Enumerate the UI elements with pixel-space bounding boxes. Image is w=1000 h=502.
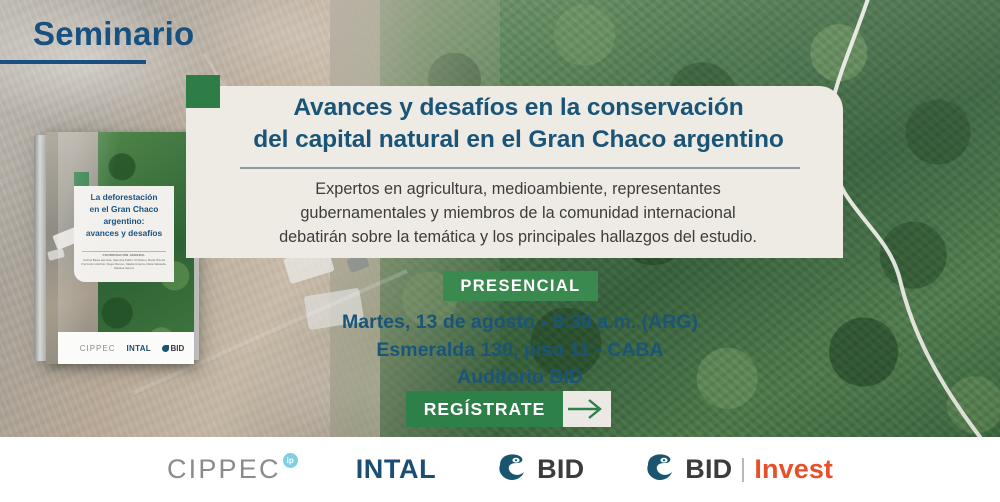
register-button-label[interactable]: REGÍSTRATE [406, 391, 563, 427]
event-time: 8:30 a.m. (ARG) [553, 311, 698, 333]
register-button[interactable]: REGÍSTRATE [406, 391, 611, 427]
bid-invest-swirl-mark-icon [644, 452, 678, 487]
bid-invest-divider [742, 458, 744, 482]
book-title-line-4: avances y desafíos [86, 228, 162, 238]
book-logo-cippec: CIPPEC [80, 344, 116, 353]
book-cover-logo-strip: CIPPEC INTAL BID [58, 332, 194, 364]
event-address: Esmeralda 130, piso 11 - CABA [376, 339, 663, 361]
logo-intal: INTAL [356, 454, 436, 485]
book-title-line-3: argentino: [104, 216, 145, 226]
book-cover-green-square [74, 172, 89, 187]
card-divider [240, 167, 800, 169]
description-line-3: debatirán sobre la temática y los princi… [279, 228, 757, 246]
book-mockup: La deforestación en el Gran Chaco argent… [34, 132, 194, 364]
event-venue: Auditorio BID [457, 366, 583, 388]
logo-bid: BID [496, 452, 584, 487]
logo-cippec: CIPPEC ip [167, 454, 296, 485]
book-cover-title: La deforestación en el Gran Chaco argent… [78, 192, 170, 240]
logo-bid-invest: BID Invest [644, 452, 833, 487]
bid-swirl-mark-icon [496, 452, 530, 487]
event-separator-dot: ● [535, 315, 553, 330]
seminar-promo-banner: Seminario La deforestación en el Gran Ch… [0, 0, 1000, 502]
book-title-line-2: en el Gran Chaco [90, 204, 159, 214]
event-date: Martes, 13 de agosto [342, 311, 535, 333]
event-details: Martes, 13 de agosto●8:30 a.m. (ARG) Esm… [180, 309, 860, 392]
cippec-wordmark: CIPPEC [167, 454, 281, 485]
intal-wordmark: INTAL [356, 454, 436, 485]
book-coordination-label: COORDINACIÓN GENERAL [82, 253, 166, 257]
book-coordination-rule [82, 251, 166, 252]
seminario-underline [0, 60, 146, 64]
bid-invest-suffix: Invest [754, 454, 833, 485]
partner-logo-bar: CIPPEC ip INTAL BID [0, 437, 1000, 502]
book-cover: La deforestación en el Gran Chaco argent… [46, 132, 194, 364]
bid-invest-wordmark: BID [685, 454, 732, 485]
bid-mark-icon [162, 345, 169, 352]
seminar-title-line-2: del capital natural en el Gran Chaco arg… [253, 126, 783, 153]
cippec-ip-badge-icon: ip [283, 453, 298, 468]
seminar-description: Expertos en agricultura, medioambiente, … [216, 177, 820, 249]
arrow-right-icon[interactable] [563, 391, 611, 427]
book-logo-intal: INTAL [127, 344, 151, 353]
bid-wordmark: BID [537, 454, 584, 485]
seminar-title: Avances y desafíos en la conservación de… [206, 92, 831, 157]
book-title-line-1: La deforestación [90, 192, 157, 202]
seminar-title-line-1: Avances y desafíos en la conservación [293, 94, 743, 121]
book-coordination-names: Gabriel Basta Hermida, Valentina Pallini… [79, 258, 169, 271]
description-line-2: gubernamentales y miembros de la comunid… [300, 204, 735, 222]
modality-badge: PRESENCIAL [443, 271, 598, 301]
description-line-1: Expertos en agricultura, medioambiente, … [315, 180, 720, 198]
seminario-kicker: Seminario [33, 17, 194, 50]
